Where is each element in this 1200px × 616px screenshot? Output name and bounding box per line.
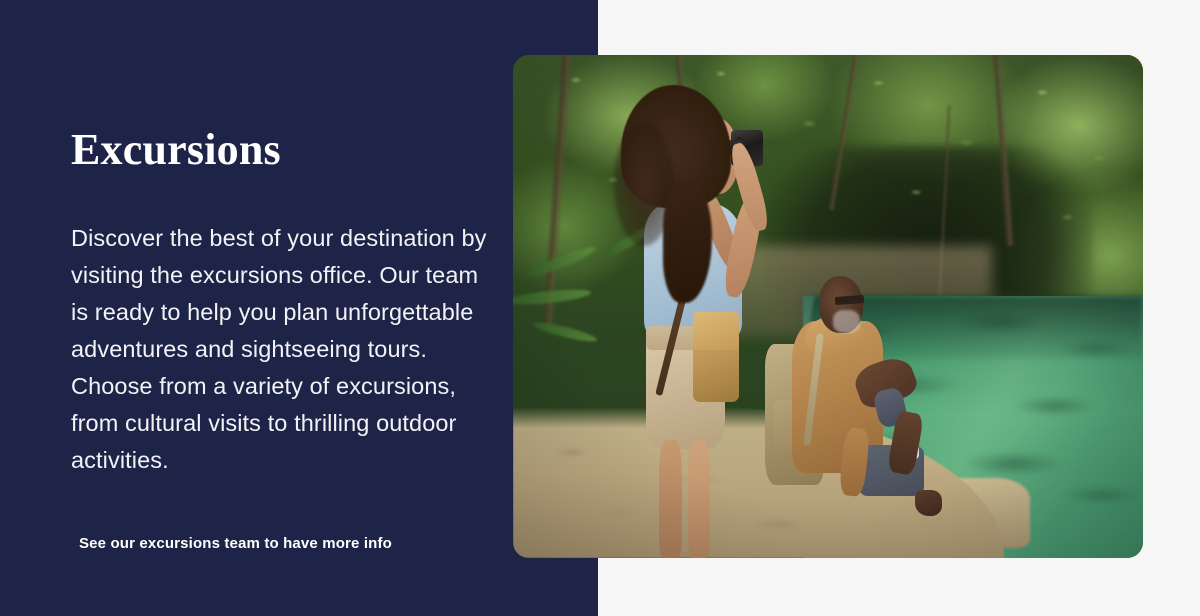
woman-photographer-figure [614,85,803,558]
navy-content-panel: Excursions Discover the best of your des… [0,0,598,616]
satchel-flap [693,312,738,350]
man-beard [833,310,860,333]
copy-block: Excursions Discover the best of your des… [71,0,501,616]
excursions-photo-card [513,55,1143,558]
woman-leg-right [688,440,711,558]
woman-leg-left [659,440,682,558]
page-title: Excursions [71,124,281,176]
excursions-team-cta-link[interactable]: See our excursions team to have more inf… [79,533,392,555]
cenote-photo [513,55,1143,558]
man-foot [915,490,942,515]
excursions-page: Excursions Discover the best of your des… [0,0,1200,616]
body-paragraph: Discover the best of your destination by… [71,220,496,479]
